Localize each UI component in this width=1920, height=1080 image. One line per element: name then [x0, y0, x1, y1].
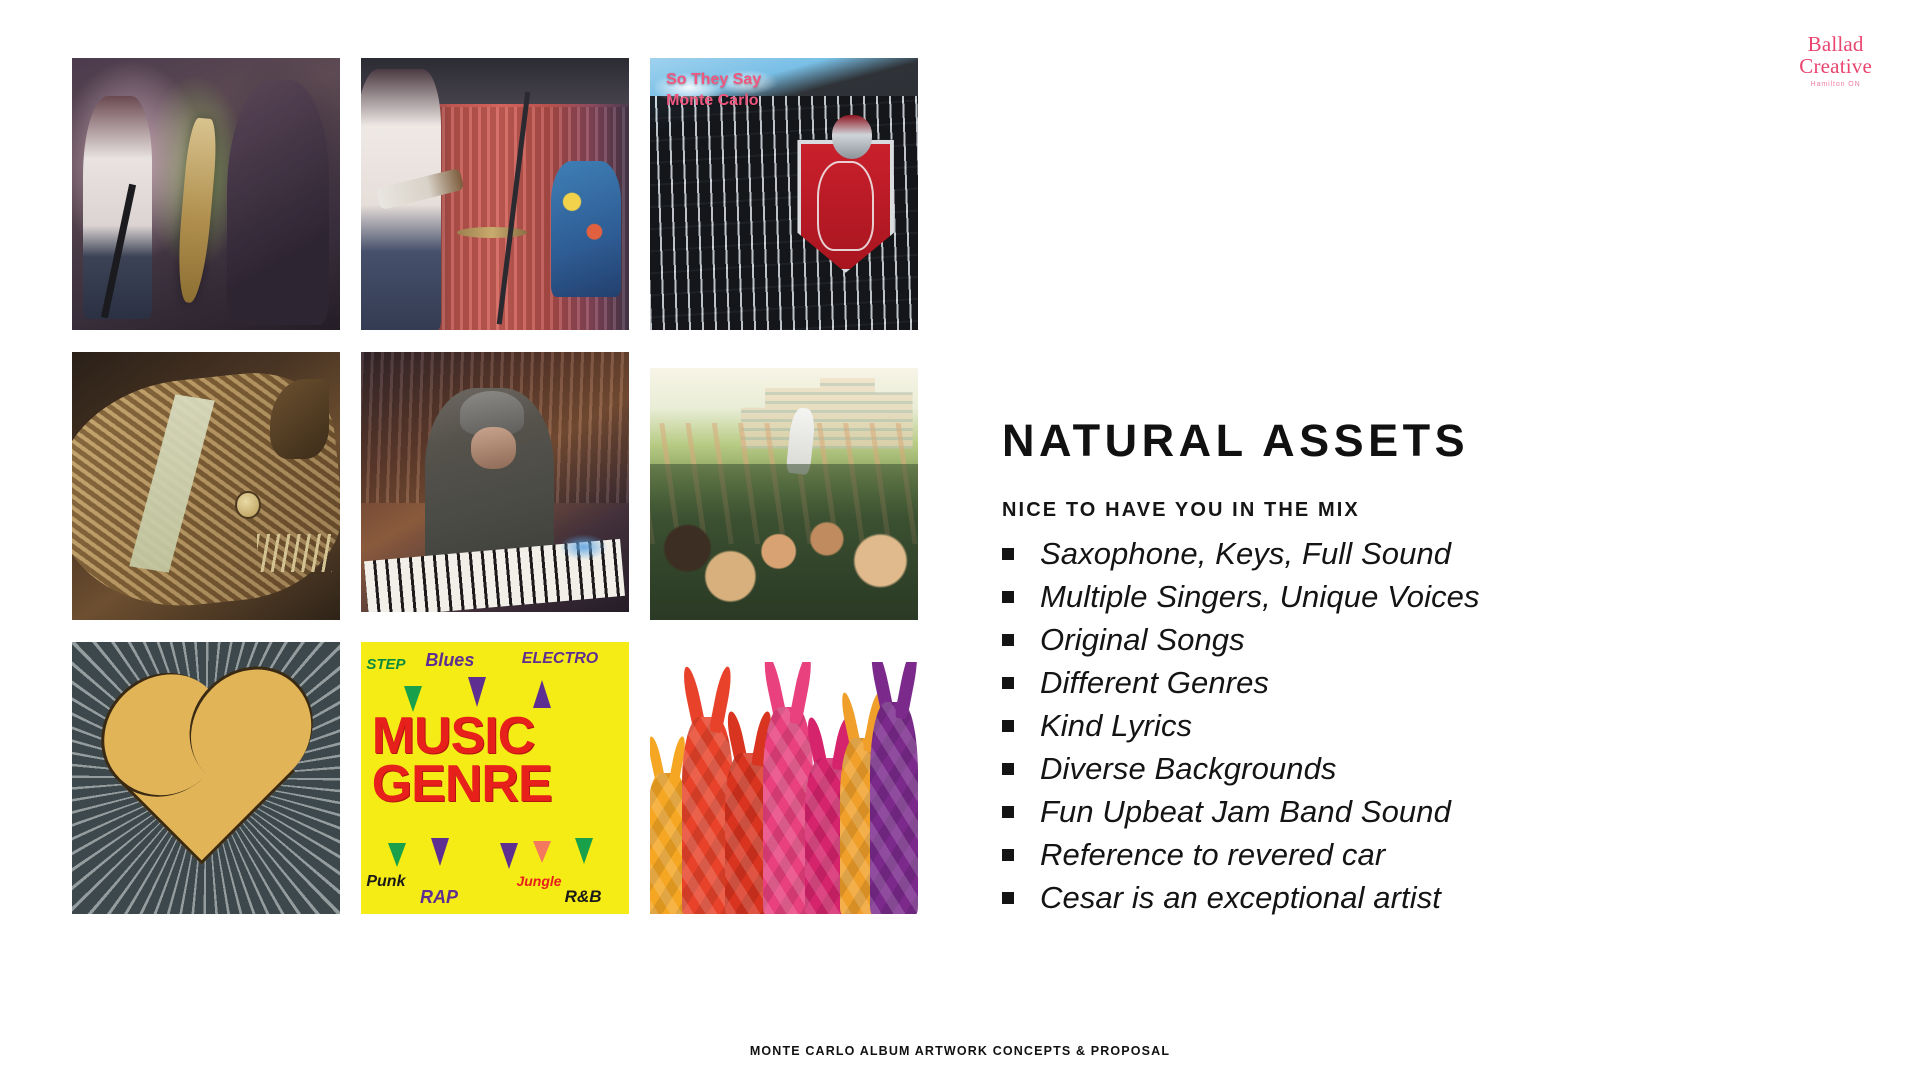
- gold-heart-illustration: [72, 642, 340, 914]
- sculpture-horn: [270, 379, 329, 459]
- natural-sculpture-photo: [72, 352, 340, 620]
- list-item: Reference to revered car: [1002, 835, 1792, 874]
- genre-word-step: STEP: [366, 656, 405, 673]
- list-item: Fun Upbeat Jam Band Sound: [1002, 792, 1792, 831]
- list-item: Different Genres: [1002, 663, 1792, 702]
- list-item-label: Fun Upbeat Jam Band Sound: [1040, 792, 1451, 831]
- genre-word-rap: RAP: [420, 887, 458, 908]
- genre-title-line2: GENRE: [372, 761, 629, 809]
- brand-location: Hamilton ON: [1799, 81, 1872, 88]
- album-title-line2: Monte Carlo: [666, 90, 761, 112]
- festival-crowd-photo: [650, 368, 918, 620]
- list-item-label: Different Genres: [1040, 663, 1269, 702]
- arrow-green-punk: [388, 843, 406, 867]
- list-item-label: Multiple Singers, Unique Voices: [1040, 577, 1480, 616]
- gallery-image-natural-sculpture: [72, 352, 340, 620]
- list-item: Original Songs: [1002, 620, 1792, 659]
- gallery-image-gold-heart: [72, 642, 340, 914]
- arrow-green-rnb: [575, 838, 593, 864]
- genre-word-electro: ELECTRO: [522, 650, 598, 668]
- list-item-label: Cesar is an exceptional artist: [1040, 878, 1441, 917]
- keyboardist-face: [471, 427, 517, 469]
- list-item-label: Original Songs: [1040, 620, 1245, 659]
- list-item: Multiple Singers, Unique Voices: [1002, 577, 1792, 616]
- list-item-label: Diverse Backgrounds: [1040, 749, 1337, 788]
- album-title-overlay: So They Say Monte Carlo: [666, 69, 761, 112]
- list-item-label: Saxophone, Keys, Full Sound: [1040, 534, 1451, 573]
- gallery-image-raised-hands: [650, 662, 918, 914]
- square-bullet-icon: [1002, 634, 1014, 646]
- arrow-purple-rap: [431, 838, 449, 866]
- genre-word-punk: Punk: [366, 873, 405, 891]
- sculpture-light-band: [130, 394, 216, 572]
- gallery-image-music-genre-poster: STEP Blues ELECTRO Punk RAP Jungle R&B: [361, 642, 629, 914]
- genre-word-jungle: Jungle: [516, 873, 561, 889]
- band-live-photo: [361, 58, 629, 330]
- poly-texture: [870, 702, 918, 914]
- gallery-row-3: STEP Blues ELECTRO Punk RAP Jungle R&B: [72, 642, 922, 914]
- genre-poster-title: MUSIC GENRE: [372, 713, 629, 809]
- genre-title-line1: MUSIC: [372, 713, 629, 761]
- gallery-row-2: [72, 352, 922, 620]
- mic-stand-shape: [497, 91, 530, 324]
- list-item: Kind Lyrics: [1002, 706, 1792, 745]
- slide-canvas: Ballad Creative Hamilton ON: [0, 0, 1920, 1080]
- square-bullet-icon: [1002, 806, 1014, 818]
- gallery-image-sax-player: [72, 58, 340, 330]
- album-title-line1: So They Say: [666, 69, 761, 91]
- brand-name-line2: Creative: [1799, 56, 1872, 77]
- cymbal-shape: [457, 227, 527, 238]
- arrow-purple-blues: [468, 677, 486, 707]
- arrow-purple-center: [500, 843, 518, 869]
- list-item: Saxophone, Keys, Full Sound: [1002, 534, 1792, 573]
- monte-carlo-grille-photo: So They Say Monte Carlo: [650, 58, 918, 330]
- square-bullet-icon: [1002, 677, 1014, 689]
- list-item: Diverse Backgrounds: [1002, 749, 1792, 788]
- list-item-label: Reference to revered car: [1040, 835, 1385, 874]
- crowd-faces: [650, 464, 918, 620]
- sculpture-teeth: [257, 534, 332, 572]
- square-bullet-icon: [1002, 849, 1014, 861]
- brand-name-line1: Ballad: [1799, 34, 1872, 55]
- section-subtitle: NICE TO HAVE YOU IN THE MIX: [1002, 499, 1792, 522]
- square-bullet-icon: [1002, 892, 1014, 904]
- slide-footer: MONTE CARLO ALBUM ARTWORK CONCEPTS & PRO…: [0, 1044, 1920, 1058]
- square-bullet-icon: [1002, 720, 1014, 732]
- music-genre-poster-photo: STEP Blues ELECTRO Punk RAP Jungle R&B: [361, 642, 629, 914]
- list-item: Cesar is an exceptional artist: [1002, 878, 1792, 917]
- monte-carlo-crest-badge: [797, 140, 893, 273]
- hand-purple-1: [870, 702, 918, 914]
- gallery-image-festival-crowd: [650, 368, 918, 620]
- brand-logo: Ballad Creative Hamilton ON: [1799, 34, 1872, 88]
- square-bullet-icon: [1002, 548, 1014, 560]
- sax-player-head: [249, 80, 305, 145]
- drummer-figure: [551, 161, 621, 297]
- raised-hands-illustration: [650, 662, 918, 914]
- sculpture-eye: [235, 491, 260, 519]
- sax-singer-figure: [83, 96, 153, 319]
- gallery-image-keyboard-player: [361, 352, 629, 612]
- gallery-image-band-live: [361, 58, 629, 330]
- square-bullet-icon: [1002, 591, 1014, 603]
- square-bullet-icon: [1002, 763, 1014, 775]
- arrow-purple-electro: [533, 680, 551, 708]
- stage-light-glow: [559, 534, 607, 560]
- genre-word-rnb: R&B: [565, 887, 602, 907]
- genre-word-blues: Blues: [425, 650, 474, 671]
- keyboard-player-photo: [361, 352, 629, 612]
- list-item-label: Kind Lyrics: [1040, 706, 1192, 745]
- image-gallery-grid: So They Say Monte Carlo: [72, 58, 922, 936]
- sax-player-photo: [72, 58, 340, 330]
- content-column: NATURAL ASSETS NICE TO HAVE YOU IN THE M…: [1002, 418, 1792, 921]
- crest-helmet-ornament: [832, 115, 872, 159]
- gallery-image-monte-carlo-grille: So They Say Monte Carlo: [650, 58, 918, 330]
- arrow-pink-jungle: [533, 841, 551, 863]
- page-title: NATURAL ASSETS: [1002, 418, 1792, 463]
- gallery-row-1: So They Say Monte Carlo: [72, 58, 922, 330]
- assets-bullet-list: Saxophone, Keys, Full Sound Multiple Sin…: [1002, 534, 1792, 917]
